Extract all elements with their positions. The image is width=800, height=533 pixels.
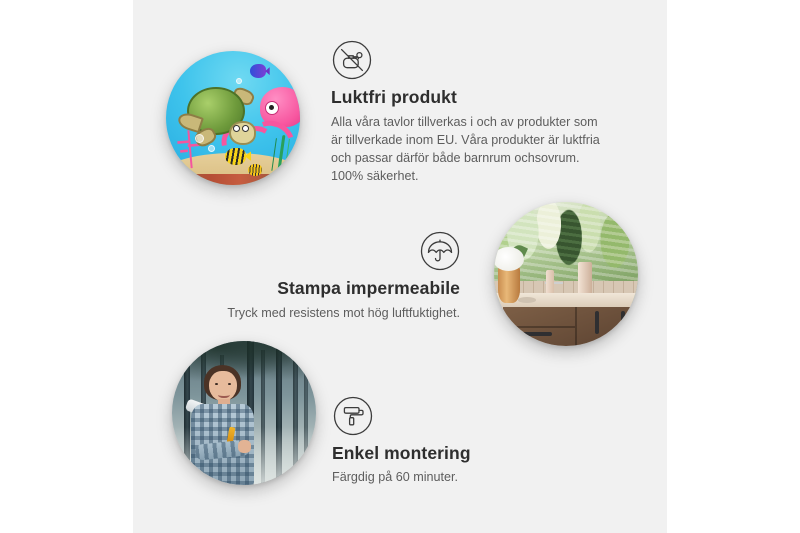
underwater-cartoon-circle-image bbox=[166, 51, 300, 185]
feature-block-easy-mounting: Enkel montering Färgdig på 60 minuter. bbox=[332, 396, 587, 487]
feature-body: Tryck med resistens mot hög luftfuktighe… bbox=[205, 305, 460, 323]
no-fragrance-icon bbox=[332, 40, 372, 80]
umbrella-icon bbox=[420, 231, 460, 271]
forest-mural-person-circle-image bbox=[172, 341, 316, 485]
feature-title: Luktfri produkt bbox=[331, 87, 609, 108]
feature-title: Stampa impermeabile bbox=[205, 278, 460, 299]
bathroom-wallpaper-circle-image bbox=[494, 202, 638, 346]
feature-body: Alla våra tavlor tillverkas i och av pro… bbox=[331, 114, 609, 186]
paint-roller-icon bbox=[333, 396, 373, 436]
feature-body: Färgdig på 60 minuter. bbox=[332, 469, 587, 487]
feature-block-waterproof: Stampa impermeabile Tryck med resistens … bbox=[205, 231, 460, 323]
feature-title: Enkel montering bbox=[332, 443, 587, 464]
feature-block-odor-free: Luktfri produkt Alla våra tavlor tillver… bbox=[331, 40, 609, 186]
feature-infographic: Luktfri produkt Alla våra tavlor tillver… bbox=[0, 0, 800, 533]
